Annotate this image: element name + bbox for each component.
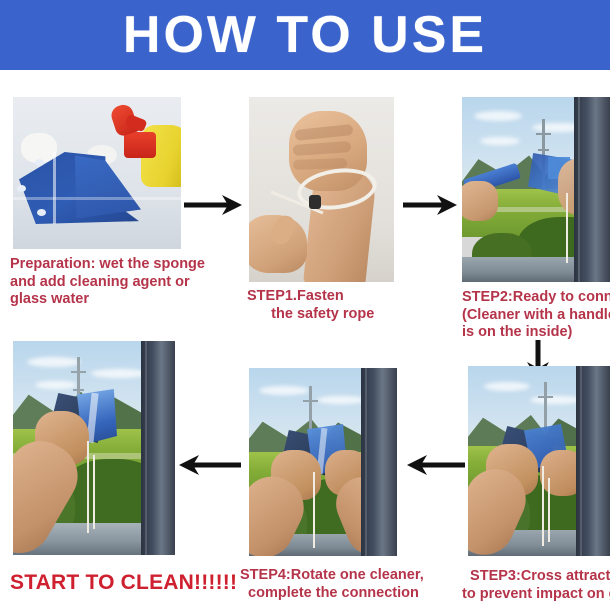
header-banner: HOW TO USE — [0, 0, 610, 70]
caption-preparation: Preparation: wet the sponge and add clea… — [10, 256, 235, 309]
caption-start-to-clean: START TO CLEAN!!!!!! — [10, 570, 260, 596]
photo-step2 — [462, 97, 610, 282]
caption-step4: STEP4:Rotate one cleaner, complete the c… — [240, 567, 465, 602]
caption-step3: STEP3:Cross attraction to prevent impact… — [462, 568, 610, 603]
photo-start — [13, 341, 175, 555]
caption-step2: STEP2:Ready to connec (Cleaner with a ha… — [462, 289, 610, 342]
arrow-step3-to-step4 — [407, 453, 465, 477]
photo-step3 — [468, 366, 610, 556]
photo-step1 — [249, 97, 394, 282]
arrow-prep-to-step1 — [184, 193, 244, 217]
caption-step1: STEP1.Fasten the safety rope — [247, 288, 462, 323]
photo-preparation — [13, 97, 181, 249]
arrow-step1-to-step2 — [403, 193, 459, 217]
how-to-use-infographic: HOW TO USE Preparation: wet the sp — [0, 0, 610, 610]
arrow-step4-to-start — [179, 453, 241, 477]
photo-step4 — [249, 368, 397, 556]
page-title: HOW TO USE — [123, 9, 487, 61]
